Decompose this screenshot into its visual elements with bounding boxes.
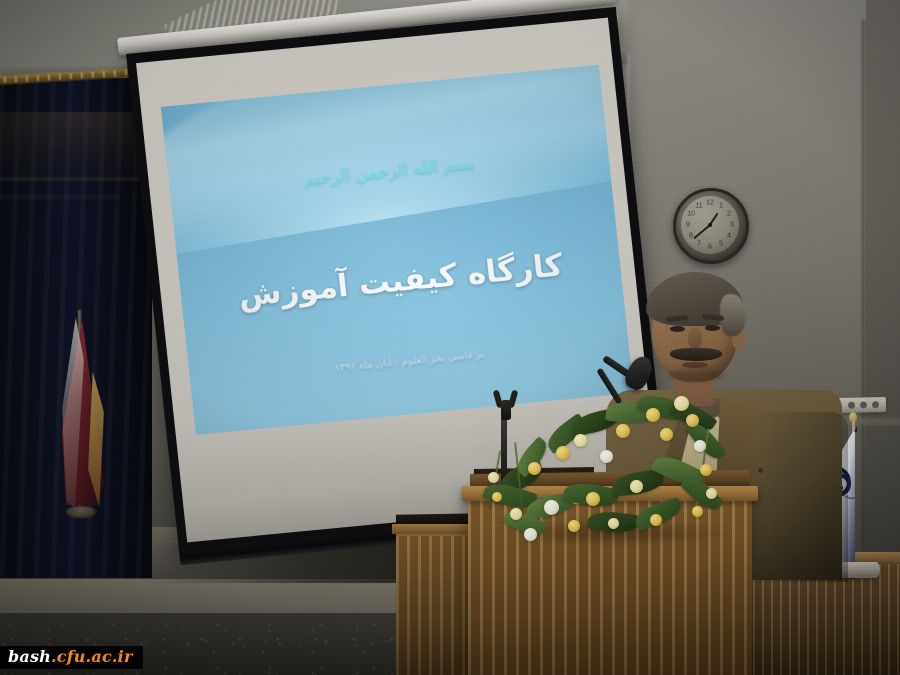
bouquet-flower xyxy=(568,520,580,532)
wall-clock: 12 1 2 3 4 5 6 7 8 9 10 11 xyxy=(673,188,749,264)
outlet-socket-3[interactable] xyxy=(872,401,879,408)
speaker-shoulder-shadow xyxy=(752,412,848,582)
flower-bouquet xyxy=(488,388,744,568)
speaker-eye-right xyxy=(705,325,720,331)
speaker-nose xyxy=(688,328,702,350)
outlet-socket-2[interactable] xyxy=(860,401,867,408)
watermark-secondary-text: .cfu.ac.ir xyxy=(51,647,133,666)
bouquet-flower xyxy=(556,446,570,460)
bouquet-flower xyxy=(492,492,502,502)
side-bench-top xyxy=(392,524,480,534)
bouquet-flower xyxy=(694,440,706,452)
slide-subtitle-text: بر قاسی بحر العلوم - آبان ماه ۱۳۹۶ xyxy=(190,335,629,388)
speaker-eye-left xyxy=(670,326,685,332)
speaker-chin-shadow xyxy=(668,368,724,382)
bouquet-flower xyxy=(660,428,673,441)
side-bench-slats xyxy=(396,536,476,675)
bouquet-flower xyxy=(528,462,541,475)
bouquet-flower xyxy=(616,424,630,438)
projected-slide: بسم الله الرحمن الرحیم کارگاه کیفیت آموز… xyxy=(161,65,634,435)
bouquet-flower xyxy=(510,508,522,520)
wall-seam xyxy=(862,20,865,640)
bouquet-flower xyxy=(524,528,537,541)
photograph-canvas: بسم الله الرحمن الرحیم کارگاه کیفیت آموز… xyxy=(0,0,900,675)
bouquet-flower xyxy=(544,500,559,515)
clock-glass-reflection xyxy=(676,191,746,261)
bouquet-flower xyxy=(706,488,717,499)
bouquet-flower xyxy=(692,506,703,517)
bouquet-flower xyxy=(674,396,689,411)
outlet-socket-1[interactable] xyxy=(848,402,855,409)
bouquet-flower xyxy=(700,464,712,476)
bouquet-flower xyxy=(488,472,499,483)
watermark-primary-text: bash xyxy=(8,647,51,666)
stage-step-face xyxy=(0,579,402,613)
bouquet-flower xyxy=(574,434,587,447)
site-watermark: bash.cfu.ac.ir xyxy=(0,646,143,669)
bouquet-flower xyxy=(600,450,613,463)
speaker-mustache xyxy=(670,348,722,361)
speaker-jacket-button xyxy=(758,468,763,473)
bouquet-flower xyxy=(586,492,600,506)
bouquet-flower xyxy=(686,414,699,427)
speaker-hair-temple xyxy=(720,294,746,336)
left-flag-base xyxy=(66,506,96,518)
bouquet-flower xyxy=(650,514,662,526)
slide-title-text: کارگاه کیفیت آموزش xyxy=(180,242,622,320)
bouquet-flower xyxy=(630,480,643,493)
bouquet-flower xyxy=(646,408,660,422)
bouquet-flower xyxy=(608,518,619,529)
